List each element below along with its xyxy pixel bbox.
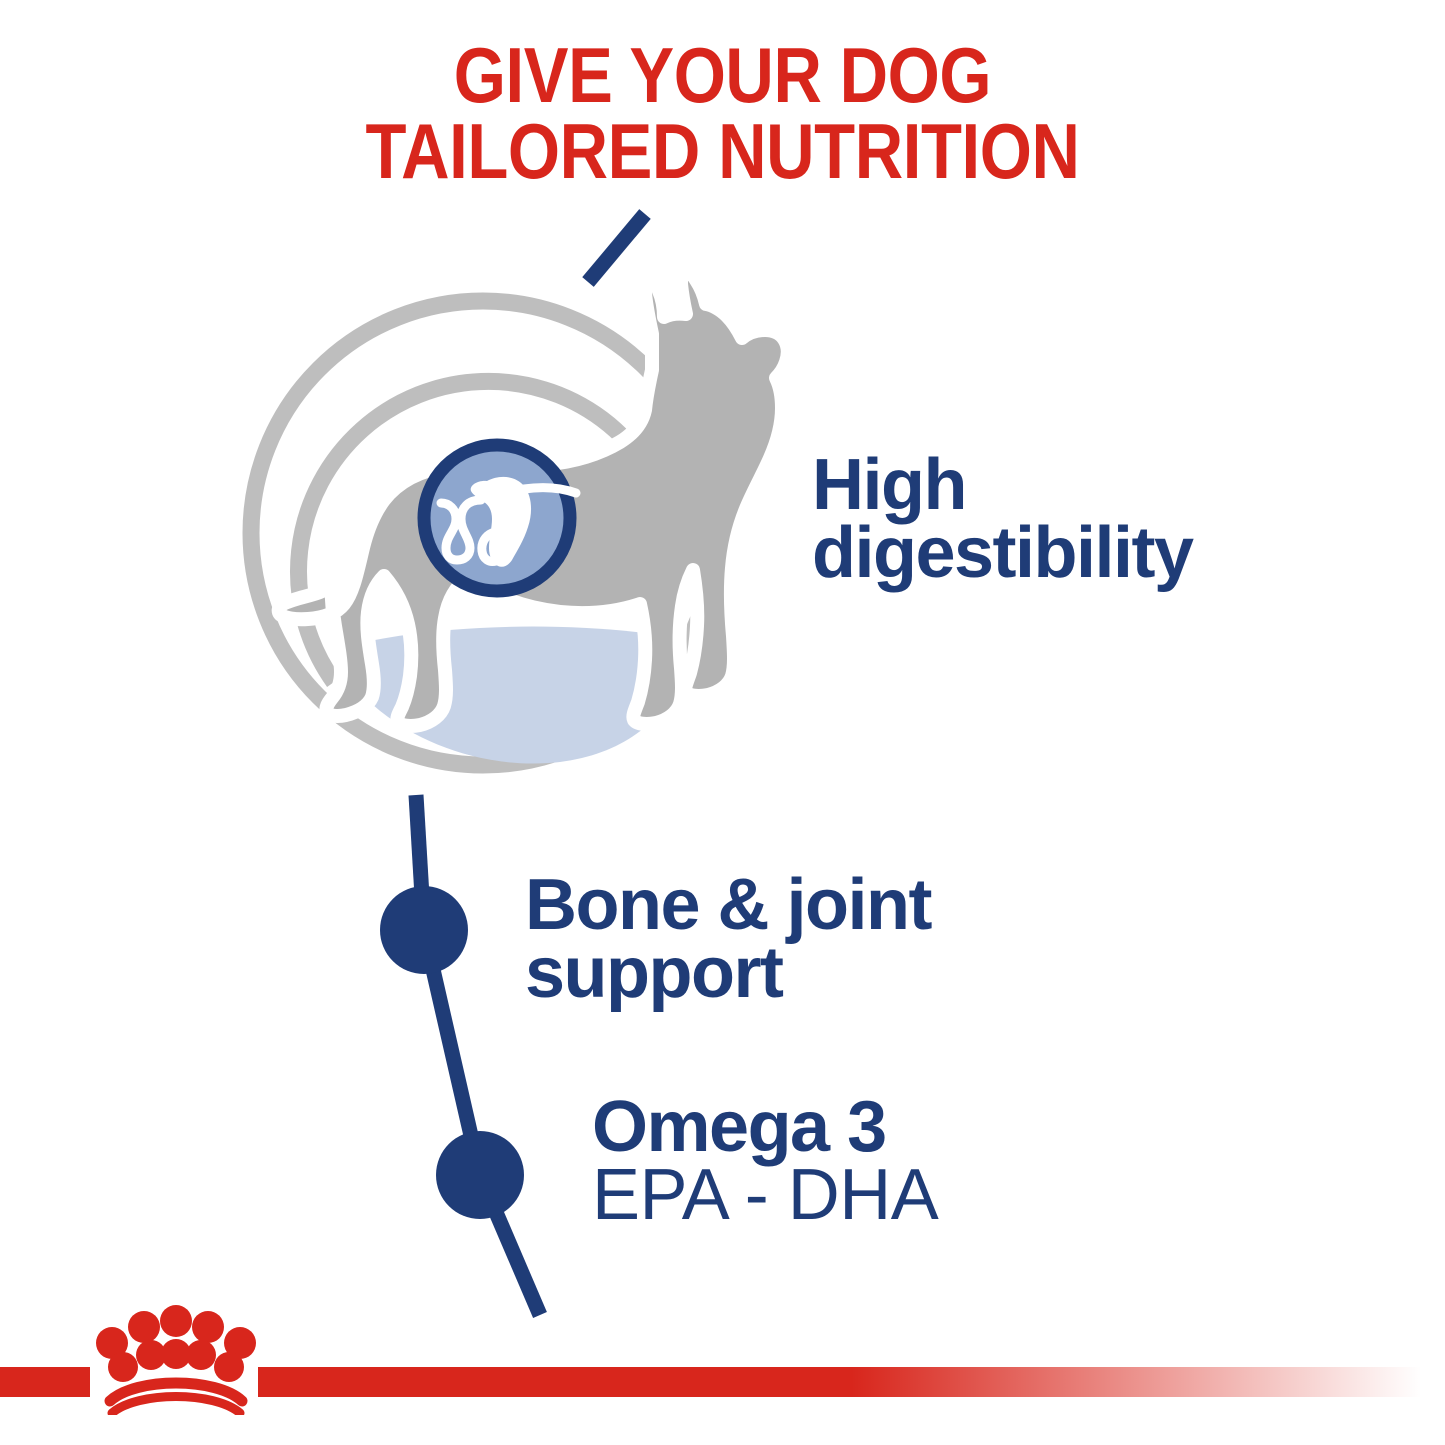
poster-canvas: GIVE YOUR DOG TAILORED NUTRITION — [0, 0, 1445, 1445]
connector-top-tick — [588, 214, 645, 282]
connector-segment-3 — [480, 1175, 540, 1315]
bullet-dot-bone-joint — [380, 886, 468, 974]
dog-body — [279, 271, 788, 726]
page-title: GIVE YOUR DOG TAILORED NUTRITION — [101, 38, 1344, 189]
royal-canin-crown-logo — [88, 1297, 263, 1415]
bullet-dot-omega — [436, 1131, 524, 1219]
highlight-circle-ring — [424, 445, 570, 591]
headline-line-2: TAILORED NUTRITION — [101, 114, 1344, 190]
crown-dots — [96, 1305, 256, 1382]
highlight-circle-fill — [424, 445, 570, 591]
feature-label-omega-3: Omega 3 EPA - DHA — [592, 1094, 938, 1229]
outer-ring — [251, 301, 715, 765]
dog-silhouette — [279, 271, 788, 726]
stomach-and-intestine-icon — [441, 477, 576, 567]
feature-line-1: High — [812, 452, 1193, 520]
feature-line-2: support — [525, 940, 931, 1008]
headline-line-1: GIVE YOUR DOG — [101, 38, 1344, 114]
dog-body-halo — [639, 375, 734, 452]
feature-line-2: digestibility — [812, 520, 1193, 588]
concentric-rings — [251, 301, 715, 765]
feature-line-2: EPA - DHA — [592, 1162, 938, 1230]
feature-line-1: Omega 3 — [592, 1094, 938, 1162]
feature-line-1: Bone & joint — [525, 872, 931, 940]
connector-segment-1 — [416, 795, 424, 930]
brand-bar-left-segment — [0, 1367, 90, 1397]
brand-bar-right-segment — [258, 1367, 1445, 1397]
inner-ring-arc — [298, 381, 678, 682]
ground-ellipse — [340, 627, 681, 764]
crown-base-arcs — [110, 1383, 242, 1413]
digestive-highlight-badge — [424, 445, 576, 591]
feature-label-high-digestibility: High digestibility — [812, 452, 1193, 587]
connector-segment-2 — [424, 930, 480, 1175]
feature-label-bone-joint-support: Bone & joint support — [525, 872, 931, 1007]
